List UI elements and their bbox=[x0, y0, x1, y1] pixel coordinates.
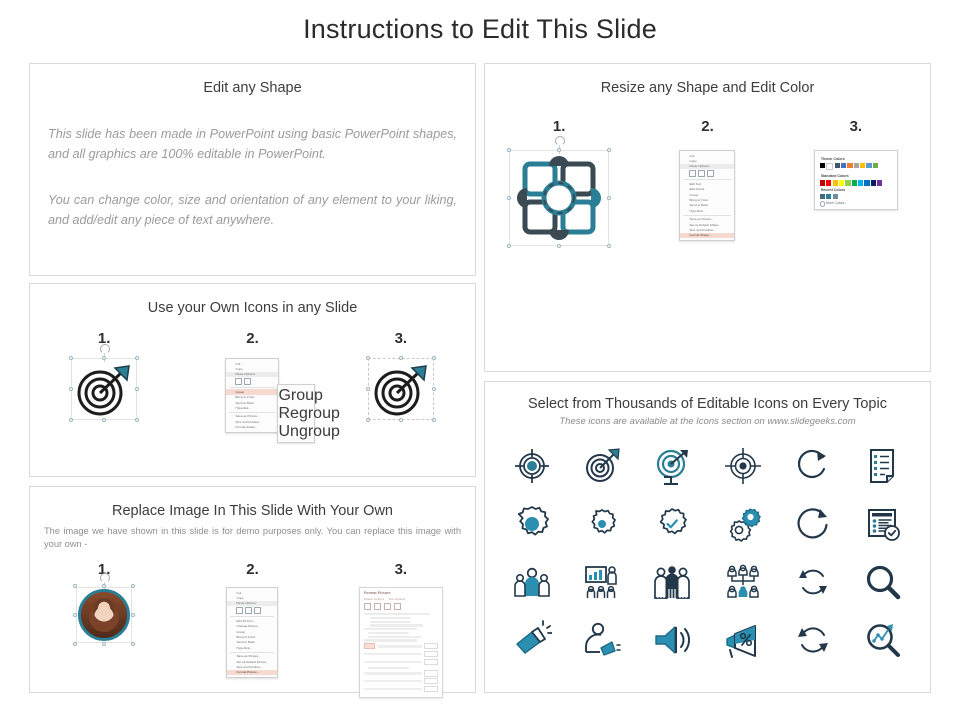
step-number-2: 2. bbox=[701, 118, 714, 135]
double-gear-icon bbox=[723, 504, 763, 544]
icon-cell[interactable] bbox=[567, 441, 637, 491]
panel-replace-image: Replace Image In This Slide With Your Ow… bbox=[29, 486, 476, 693]
editable-icons-subtitle: These icons are available at the Icons s… bbox=[485, 416, 930, 427]
color-picker-theme-label: Theme Colors bbox=[821, 157, 892, 161]
color-picker-pane[interactable]: Theme Colors Sta bbox=[814, 150, 898, 210]
selection-frame bbox=[509, 150, 609, 246]
format-pane-row bbox=[368, 667, 409, 669]
rotate-handle-icon[interactable] bbox=[100, 573, 110, 583]
menu-item-hyperlink[interactable]: Hyperlink... bbox=[680, 208, 734, 213]
panel-title-resize-shape: Resize any Shape and Edit Color bbox=[485, 80, 930, 96]
theme-colors-row[interactable] bbox=[820, 163, 892, 170]
icon-cell[interactable] bbox=[778, 557, 848, 607]
submenu-item-regroup[interactable]: Regroup bbox=[278, 405, 314, 423]
icon-cell[interactable] bbox=[497, 557, 567, 607]
context-menu-format-picture[interactable]: Cut Copy Paste Options: Edit Alt Text...… bbox=[226, 587, 278, 678]
replace-image-step-numbers: 1. 2. 3. bbox=[30, 561, 475, 579]
icon-cell[interactable] bbox=[848, 499, 918, 549]
panel-title-own-icons: Use your Own Icons in any Slide bbox=[30, 300, 475, 316]
format-pane-input[interactable] bbox=[424, 651, 438, 657]
format-pane-color-swatch[interactable] bbox=[364, 643, 375, 649]
gear-filled-icon bbox=[512, 504, 552, 544]
menu-item-hyperlink[interactable]: Hyperlink... bbox=[226, 405, 278, 410]
panel-resize-shape: Resize any Shape and Edit Color 1. 2. 3. bbox=[484, 63, 931, 372]
resize-shape-step-numbers: 1. 2. 3. bbox=[485, 118, 930, 136]
team-group-icon bbox=[512, 562, 552, 602]
icon-cell[interactable] bbox=[848, 615, 918, 665]
three-people-icon bbox=[652, 562, 692, 602]
color-picker-standard-label: Standard Colors bbox=[821, 174, 892, 178]
step-number-2: 2. bbox=[246, 330, 259, 347]
presentation-audience-icon bbox=[582, 562, 622, 602]
menu-item-paste-options[interactable]: Paste Options: bbox=[680, 164, 734, 169]
panel-title-replace-image: Replace Image In This Slide With Your Ow… bbox=[30, 503, 475, 519]
icon-cell[interactable] bbox=[637, 615, 707, 665]
megaphone-discount-icon bbox=[723, 620, 763, 660]
format-pane-title: Format Picture bbox=[364, 591, 438, 595]
format-pane-row bbox=[364, 639, 417, 641]
dartboard-icon-selected[interactable] bbox=[71, 358, 137, 420]
icon-cell[interactable] bbox=[497, 615, 567, 665]
icon-cell[interactable] bbox=[778, 499, 848, 549]
refresh-arrow-icon bbox=[793, 446, 833, 486]
format-pane-row bbox=[368, 632, 409, 634]
rotate-handle-icon[interactable] bbox=[555, 136, 565, 146]
refresh-cycle-icon bbox=[793, 620, 833, 660]
format-pane-input[interactable] bbox=[424, 670, 438, 676]
panel-title-edit-shape: Edit any Shape bbox=[30, 80, 475, 96]
magnifier-target-icon bbox=[863, 620, 903, 660]
icon-cell[interactable] bbox=[567, 615, 637, 665]
paste-option-icons[interactable] bbox=[226, 377, 278, 386]
step-number-1: 1. bbox=[553, 118, 566, 135]
portrait-photo bbox=[78, 589, 130, 641]
context-menu-format-shape[interactable]: Cut Copy Paste Options: Edit Text Edit P… bbox=[679, 150, 735, 241]
gear-check-icon bbox=[652, 504, 692, 544]
target-stand-icon bbox=[652, 446, 692, 486]
menu-item-format-shape[interactable]: Format Shape... bbox=[680, 233, 734, 238]
icon-cell[interactable] bbox=[637, 441, 707, 491]
megaphone-icon bbox=[512, 620, 552, 660]
selection-frame bbox=[71, 358, 137, 420]
speaker-icon bbox=[652, 620, 692, 660]
menu-item-paste-options[interactable]: Paste Options: bbox=[226, 372, 278, 377]
menu-item-format-shape[interactable]: Format Shape... bbox=[226, 425, 278, 430]
slide-canvas: Instructions to Edit This Slide Edit any… bbox=[0, 0, 960, 720]
panel-editable-icons: Select from Thousands of Editable Icons … bbox=[484, 381, 931, 693]
magnifier-icon bbox=[863, 562, 903, 602]
icon-grid bbox=[497, 441, 918, 665]
menu-item-format-picture[interactable]: Format Picture... bbox=[227, 670, 277, 675]
checklist-document-icon bbox=[863, 446, 903, 486]
icon-cell[interactable] bbox=[778, 441, 848, 491]
edit-shape-paragraph-2: You can change color, size and orientati… bbox=[48, 190, 457, 230]
resize-shape-step-images: Cut Copy Paste Options: Edit Text Edit P… bbox=[485, 150, 930, 246]
target-crosshair-icon bbox=[512, 446, 552, 486]
context-menu-group-submenu[interactable]: Cut Copy Paste Options: Group Bring to F… bbox=[225, 358, 279, 433]
format-pane-input[interactable] bbox=[424, 678, 438, 684]
icon-cell[interactable] bbox=[497, 441, 567, 491]
icon-cell[interactable] bbox=[497, 499, 567, 549]
recent-colors-row[interactable] bbox=[820, 194, 892, 199]
icon-cell[interactable] bbox=[637, 557, 707, 607]
format-pane-row bbox=[370, 624, 423, 626]
group-submenu[interactable]: Group Regroup Ungroup bbox=[277, 384, 315, 443]
dartboard-arrow-icon bbox=[582, 446, 622, 486]
format-pane-row bbox=[368, 636, 421, 638]
format-pane-row bbox=[364, 613, 431, 615]
dartboard-icon-ungrouped[interactable] bbox=[368, 358, 434, 420]
page-title: Instructions to Edit This Slide bbox=[0, 14, 960, 45]
icon-cell[interactable] bbox=[707, 441, 777, 491]
step-number-3: 3. bbox=[850, 118, 863, 135]
quadrant-shape-selected[interactable] bbox=[509, 150, 609, 246]
own-icons-step-numbers: 1. 2. 3. bbox=[30, 330, 475, 348]
replace-image-subtitle: The image we have shown in this slide is… bbox=[44, 525, 461, 551]
more-colors-button[interactable]: More Colors... bbox=[820, 201, 892, 205]
team-network-icon bbox=[723, 562, 763, 602]
step-number-2: 2. bbox=[246, 561, 259, 578]
replace-image-step-images: Cut Copy Paste Options: Edit Alt Text...… bbox=[30, 587, 475, 698]
rotate-handle-icon[interactable] bbox=[100, 344, 110, 354]
circular-portrait-selected[interactable] bbox=[76, 587, 132, 643]
menu-item-paste-options[interactable]: Paste Options: bbox=[227, 601, 277, 606]
icon-cell[interactable] bbox=[848, 441, 918, 491]
icon-cell[interactable] bbox=[567, 557, 637, 607]
step-number-3: 3. bbox=[395, 330, 408, 347]
person-megaphone-icon bbox=[582, 620, 622, 660]
menu-item-hyperlink[interactable]: Hyperlink... bbox=[227, 645, 277, 650]
gear-dot-icon bbox=[582, 504, 622, 544]
own-icons-step-images: Cut Copy Paste Options: Group Bring to F… bbox=[30, 358, 475, 433]
icon-cell[interactable] bbox=[707, 615, 777, 665]
format-pane-row bbox=[370, 617, 411, 619]
format-pane-tab-text-options[interactable]: Text Options bbox=[388, 597, 405, 601]
icon-cell[interactable] bbox=[637, 499, 707, 549]
format-pane-row bbox=[370, 621, 411, 623]
submenu-item-group[interactable]: Group bbox=[278, 387, 314, 405]
format-pane-row bbox=[364, 628, 417, 630]
icon-cell[interactable] bbox=[707, 557, 777, 607]
format-pane-tab-shape-options[interactable]: Shape Options bbox=[364, 597, 384, 601]
checklist-approved-icon bbox=[863, 504, 903, 544]
format-pane-input[interactable] bbox=[424, 643, 438, 649]
icon-cell[interactable] bbox=[707, 499, 777, 549]
edit-shape-paragraph-1: This slide has been made in PowerPoint u… bbox=[48, 124, 457, 164]
panel-title-editable-icons: Select from Thousands of Editable Icons … bbox=[485, 396, 930, 412]
format-pane-input[interactable] bbox=[424, 686, 438, 692]
panel-edit-any-shape: Edit any Shape This slide has been made … bbox=[29, 63, 476, 276]
paste-option-icons[interactable] bbox=[227, 606, 277, 615]
format-pane-input[interactable] bbox=[424, 659, 438, 665]
crosshair-dot-icon bbox=[723, 446, 763, 486]
selection-frame-dashed bbox=[368, 358, 434, 420]
icon-cell[interactable] bbox=[778, 615, 848, 665]
color-picker-recent-label: Recent Colors bbox=[821, 188, 892, 192]
icon-cell[interactable] bbox=[848, 557, 918, 607]
paste-option-icons[interactable] bbox=[680, 169, 734, 178]
step-number-3: 3. bbox=[395, 561, 408, 578]
format-pane-icon-row[interactable] bbox=[364, 603, 438, 610]
circular-arrow-icon bbox=[793, 504, 833, 544]
standard-colors-row[interactable] bbox=[820, 180, 892, 185]
format-picture-pane[interactable]: Format Picture Shape Options Text Option… bbox=[359, 587, 443, 698]
sync-arrows-icon bbox=[793, 562, 833, 602]
icon-cell[interactable] bbox=[567, 499, 637, 549]
submenu-item-ungroup[interactable]: Ungroup bbox=[278, 423, 314, 441]
panel-use-own-icons: Use your Own Icons in any Slide 1. 2. 3. bbox=[29, 283, 476, 477]
